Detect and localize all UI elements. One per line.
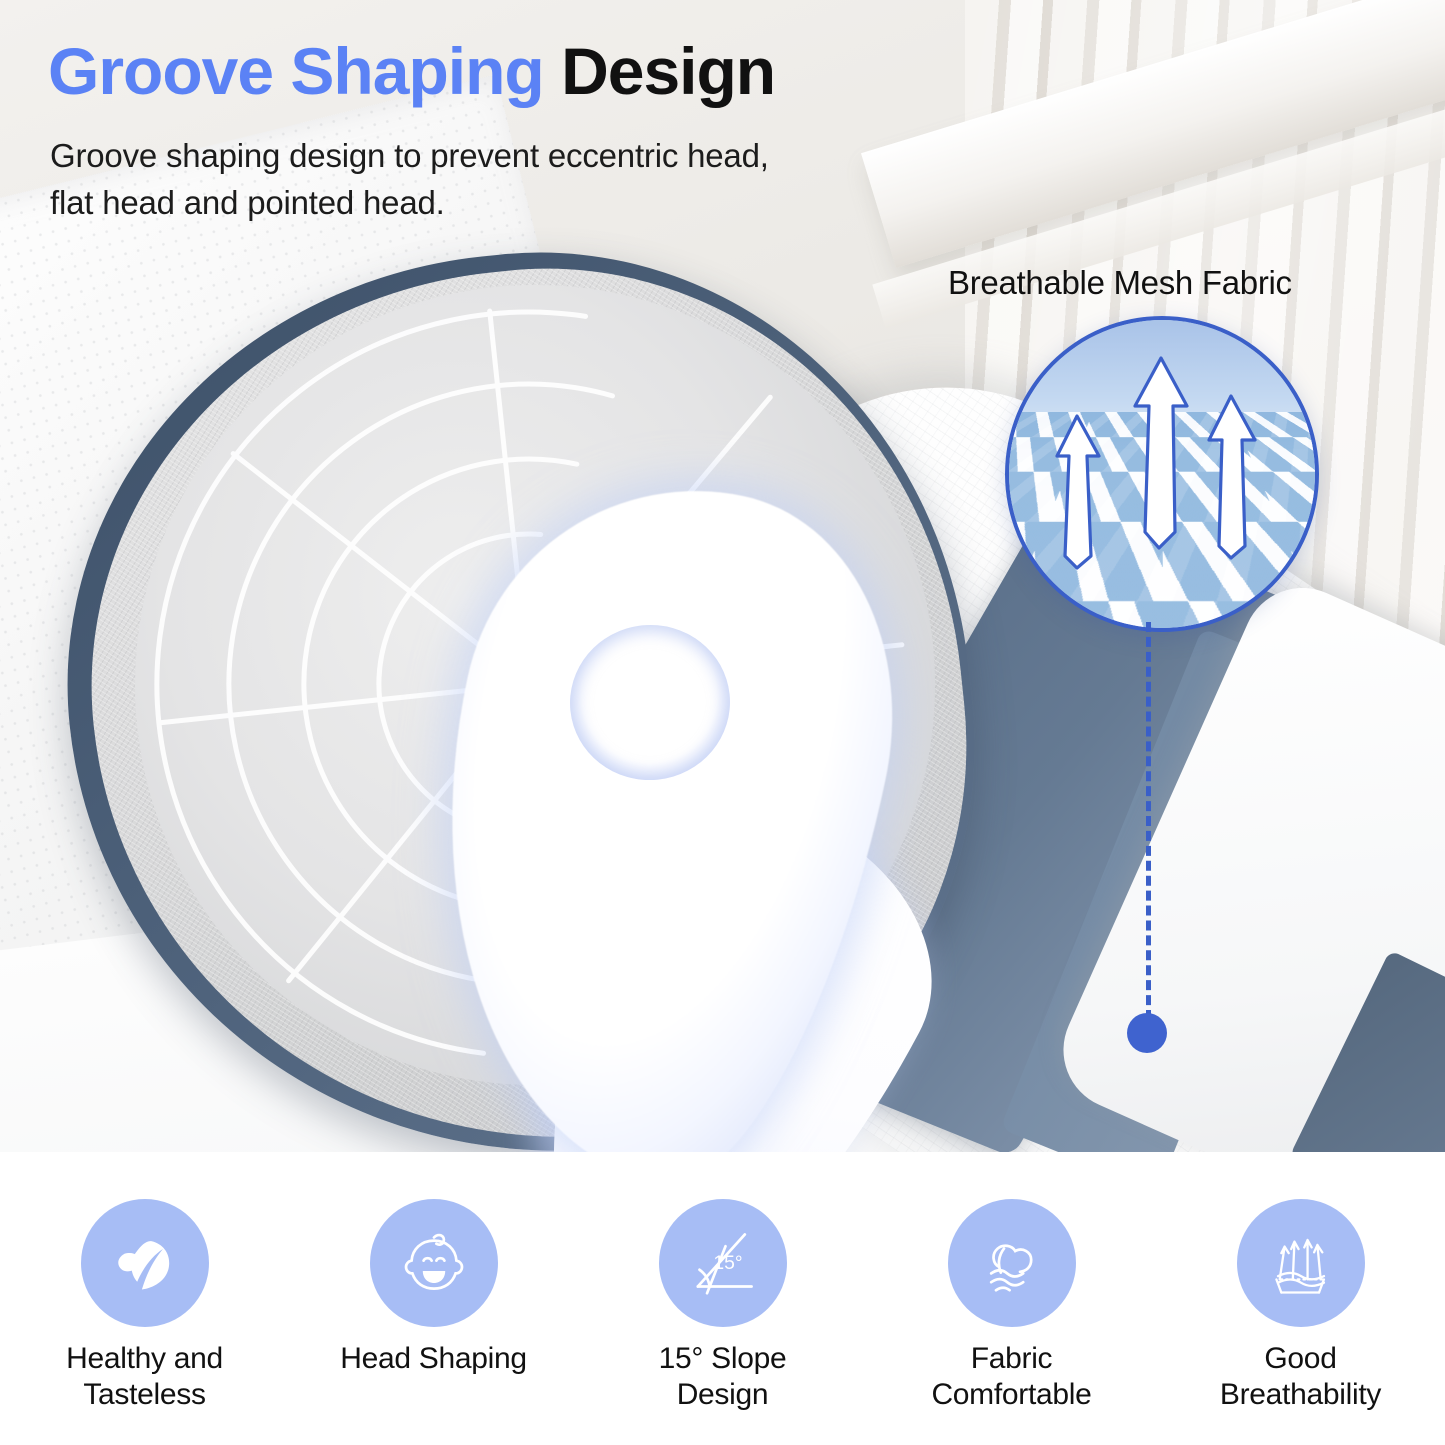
angle-value-text: 15° [713, 1253, 742, 1274]
cloud-wave-icon [948, 1199, 1076, 1327]
title-accent-text: Groove Shaping [48, 34, 544, 108]
feature-item-fabric-comfortable[interactable]: Fabric Comfortable [867, 1152, 1156, 1445]
airflow-arrows-icon [1009, 320, 1315, 628]
feature-row: Healthy and Tasteless Head Shaping [0, 1152, 1445, 1445]
feature-label: Fabric Comfortable [931, 1341, 1091, 1413]
head-shaping-pillow [60, 255, 990, 1152]
product-infographic: Groove Shaping Design Groove shaping des… [0, 0, 1445, 1445]
callout-connector-line [1146, 622, 1151, 1020]
feature-item-head-shaping[interactable]: Head Shaping [289, 1152, 578, 1445]
groove-recess [380, 475, 940, 1152]
feature-item-healthy-tasteless[interactable]: Healthy and Tasteless [0, 1152, 289, 1445]
page-subtitle: Groove shaping design to prevent eccentr… [50, 133, 769, 227]
mesh-fabric-callout-circle [1005, 316, 1319, 632]
feature-item-slope-design[interactable]: 15° 15° Slope Design [578, 1152, 867, 1445]
angle-15-icon: 15° [659, 1199, 787, 1327]
airflow-icon [1237, 1199, 1365, 1327]
baby-face-icon [370, 1199, 498, 1327]
leaf-icon [81, 1199, 209, 1327]
callout-anchor-dot [1127, 1013, 1167, 1053]
feature-item-breathability[interactable]: Good Breathability [1156, 1152, 1445, 1445]
product-photo: Groove Shaping Design Groove shaping des… [0, 0, 1445, 1152]
feature-label: Head Shaping [340, 1341, 527, 1377]
feature-label: 15° Slope Design [659, 1341, 787, 1413]
page-title: Groove Shaping Design [48, 38, 775, 105]
feature-label: Good Breathability [1220, 1341, 1381, 1413]
mesh-callout-label: Breathable Mesh Fabric [948, 264, 1292, 302]
title-rest-text: Design [544, 34, 775, 108]
feature-label: Healthy and Tasteless [66, 1341, 223, 1413]
